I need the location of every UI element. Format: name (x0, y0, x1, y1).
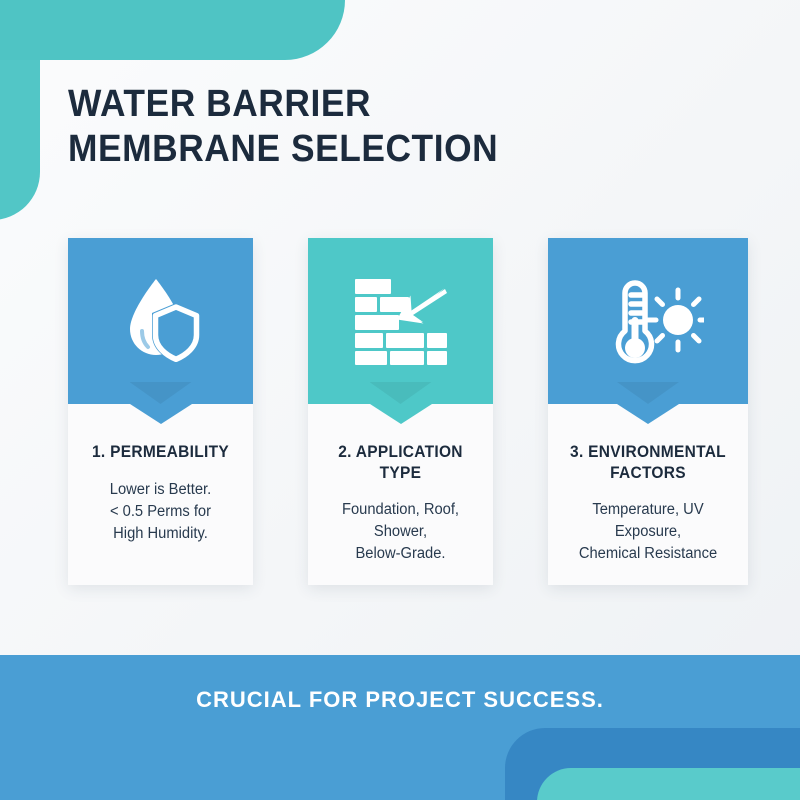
card-label: 2. APPLICATION TYPE (323, 442, 478, 483)
card-notch (617, 404, 679, 424)
factor-card[interactable]: 2. APPLICATION TYPE Foundation, Roof, Sh… (308, 238, 493, 585)
decorative-teal-rounded-shape (537, 768, 800, 800)
card-description: Lower is Better. < 0.5 Perms for High Hu… (82, 479, 239, 545)
brick-wall-arrow-icon (351, 275, 451, 367)
card-header-application-type (308, 238, 493, 404)
card-label: 3. ENVIRONMENTAL FACTORS (563, 442, 732, 483)
card-description: Foundation, Roof, Shower, Below-Grade. (322, 499, 479, 565)
page-title: WATER BARRIER MEMBRANE SELECTION (68, 82, 628, 172)
card-body: 3. ENVIRONMENTAL FACTORS Temperature, UV… (548, 404, 748, 585)
card-label: 1. PERMEABILITY (83, 442, 238, 463)
notch-shadow (130, 382, 192, 404)
card-notch (130, 404, 192, 424)
card-header-environmental-factors (548, 238, 748, 404)
factor-card-list: 1. PERMEABILITY Lower is Better. < 0.5 P… (68, 238, 748, 585)
footer-banner: CRUCIAL FOR PROJECT SUCCESS. (0, 655, 800, 800)
water-drop-shield-icon (118, 273, 204, 369)
thermometer-sun-icon (592, 273, 704, 369)
factor-card[interactable]: 3. ENVIRONMENTAL FACTORS Temperature, UV… (548, 238, 748, 585)
notch-shadow (617, 382, 679, 404)
page-title-text: WATER BARRIER MEMBRANE SELECTION (68, 82, 589, 172)
card-header-permeability (68, 238, 253, 404)
decorative-teal-top-bar (0, 0, 345, 60)
card-body: 2. APPLICATION TYPE Foundation, Roof, Sh… (308, 404, 493, 585)
factor-card[interactable]: 1. PERMEABILITY Lower is Better. < 0.5 P… (68, 238, 253, 585)
card-description: Temperature, UV Exposure, Chemical Resis… (563, 499, 734, 565)
card-notch (370, 404, 432, 424)
card-body: 1. PERMEABILITY Lower is Better. < 0.5 P… (68, 404, 253, 565)
infographic-canvas: WATER BARRIER MEMBRANE SELECTION 1. PERM (0, 0, 800, 800)
footer-tagline: CRUCIAL FOR PROJECT SUCCESS. (0, 687, 800, 713)
notch-shadow (370, 382, 432, 404)
